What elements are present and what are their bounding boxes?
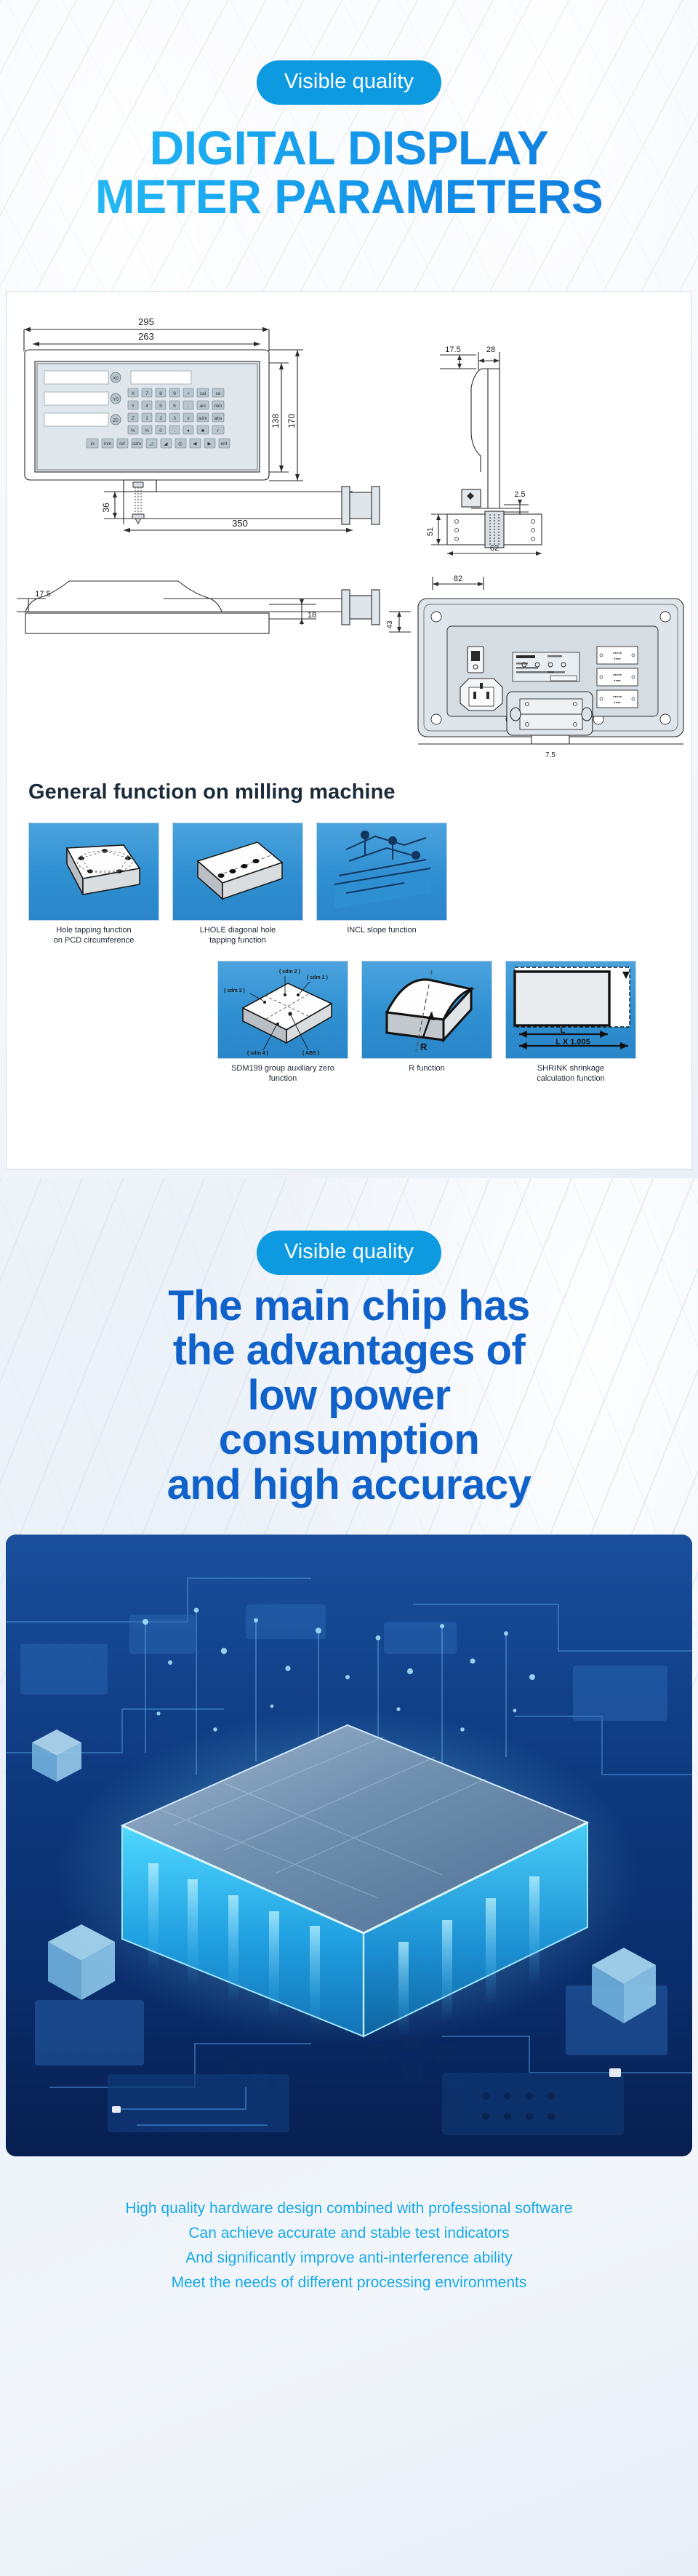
visible-quality-badge: Visible quality: [257, 60, 441, 105]
function-card-caption: INCL slope function: [316, 926, 447, 936]
dim-mount-height: 51: [426, 527, 435, 536]
svg-text:0: 0: [159, 428, 162, 433]
dim-bracket-height: 36: [101, 503, 111, 513]
dim-side-offset: 17.5: [445, 345, 460, 354]
caption-line-1: R function: [409, 1064, 445, 1073]
shrink-label-l: L: [561, 1026, 566, 1035]
section-digital-display-parameters: Visible quality DIGITAL DISPLAY METER PA…: [0, 0, 698, 1178]
svg-text:9: 9: [173, 391, 176, 396]
caption-line-2: calculation function: [537, 1074, 605, 1083]
function-card-caption: R function: [361, 1064, 492, 1074]
dim-panel-height: 138: [270, 414, 281, 428]
svg-text:●●●●●: ●●●●●: [613, 673, 622, 676]
svg-text:●●●●●: ●●●●●: [613, 651, 622, 655]
caption-line-2: on PCD circumference: [54, 936, 135, 945]
axis-label-z: Z0: [113, 418, 119, 423]
technical-drawing-svg: 295 263: [11, 299, 687, 779]
technical-drawing-card: 295 263: [6, 291, 692, 1169]
svg-text:%: %: [145, 428, 149, 433]
sdm-zero-grid-icon: ( sdm 2 ) ( sdm 1 ) ( sdm 3 ) ( sdm 4 ) …: [217, 961, 348, 1059]
svg-text:sdm: sdm: [198, 416, 207, 421]
diagonal-hole-pattern-icon: [172, 823, 303, 921]
headline-line-3: low power: [0, 1373, 698, 1417]
dim-hole-small: 7.5: [545, 751, 555, 759]
headline-line-1: The main chip has: [0, 1284, 698, 1328]
tagline-line-2: Can achieve accurate and stable test ind…: [0, 2221, 698, 2246]
svg-text:Z: Z: [132, 416, 135, 421]
function-card: L L X 1.005 SHRINK shrinkage calculation…: [505, 961, 636, 1084]
axis-label-x: X0: [113, 376, 119, 381]
dim-side-depth: 28: [486, 345, 495, 354]
function-card-caption: Hole tapping function on PCD circumferen…: [28, 926, 159, 946]
svg-text:●●●●: ●●●●: [614, 679, 621, 682]
dim-mount-span: 62: [490, 544, 499, 553]
visible-quality-badge-2: Visible quality: [257, 1231, 441, 1275]
caption-line-1: SHRINK shrinkage: [537, 1064, 604, 1073]
headline-line-5: and high accuracy: [0, 1463, 698, 1507]
headline-line-2: the advantages of: [0, 1328, 698, 1372]
function-card: LHOLE diagonal hole tapping function: [172, 823, 303, 946]
svg-text:5: 5: [159, 404, 162, 409]
dim-panel-width: 263: [138, 331, 154, 342]
headline-line-4: consumption: [0, 1417, 698, 1462]
sdm-label-abs: ( ABS ): [302, 1051, 319, 1056]
svg-text:arc: arc: [199, 404, 206, 409]
svg-text:sdm: sdm: [132, 441, 141, 447]
svg-text:8: 8: [159, 391, 162, 396]
svg-text:●●●●●: ●●●●●: [613, 695, 622, 698]
chip-headline: The main chip has the advantages of low …: [0, 1284, 698, 1507]
svg-text:ent: ent: [220, 441, 227, 447]
caption-line-1: Hole tapping function: [56, 926, 131, 935]
badge-container-second: Visible quality: [0, 1231, 698, 1275]
svg-text:mm: mm: [104, 441, 112, 447]
dim-overall-width: 295: [138, 316, 154, 327]
caption-line-1: INCL slope function: [347, 926, 417, 935]
function-cards-row-1: Hole tapping function on PCD circumferen…: [28, 823, 450, 946]
function-card: R R function: [361, 961, 492, 1084]
svg-text:6: 6: [173, 404, 176, 409]
shrink-scale-icon: L L X 1.005: [505, 961, 636, 1059]
chip-tagline: High quality hardware design combined wi…: [0, 2196, 698, 2295]
sdm-label-2: ( sdm 2 ): [279, 969, 300, 975]
svg-text:Y: Y: [132, 404, 135, 409]
caption-line-1: LHOLE diagonal hole: [200, 926, 276, 935]
svg-text:●●●●: ●●●●: [614, 700, 621, 704]
dim-base-thickness: 18: [308, 611, 316, 620]
tagline-line-1: High quality hardware design combined wi…: [0, 2196, 698, 2221]
svg-text:abs: abs: [214, 416, 222, 421]
tagline-line-4: Meet the needs of different processing e…: [0, 2271, 698, 2295]
svg-text:3: 3: [173, 416, 176, 421]
function-card: Hole tapping function on PCD circumferen…: [28, 823, 159, 946]
svg-text:-: -: [188, 404, 189, 409]
dim-profile-offset: 17.5: [35, 590, 50, 599]
svg-text:●●●●: ●●●●: [614, 657, 621, 660]
badge-container-top: Visible quality: [0, 60, 698, 105]
incline-slope-icon: [316, 823, 447, 921]
svg-text:%: %: [131, 428, 135, 433]
svg-text:in: in: [90, 441, 94, 447]
svg-text:ref: ref: [119, 441, 125, 447]
general-function-title: General function on milling machine: [28, 780, 396, 804]
function-card: ( sdm 2 ) ( sdm 1 ) ( sdm 3 ) ( sdm 4 ) …: [217, 961, 348, 1084]
svg-text:mm: mm: [214, 404, 222, 409]
radius-label: R: [420, 1041, 428, 1052]
page-title: DIGITAL DISPLAY METER PARAMETERS: [0, 124, 698, 222]
dim-arm-length: 350: [232, 518, 248, 529]
page-title-line-2: METER PARAMETERS: [0, 172, 698, 221]
sdm-label-1: ( sdm 1 ): [307, 975, 328, 980]
radius-block-icon: R: [361, 961, 492, 1059]
blue-circuit-board-chip-photo: [6, 1535, 692, 2156]
svg-text:cal: cal: [200, 391, 206, 396]
axis-label-y: Y0: [113, 397, 119, 402]
function-card-caption: SDM199 group auxiliary zero function: [217, 1064, 348, 1084]
product-detail-page: Visible quality DIGITAL DISPLAY METER PA…: [0, 0, 698, 2576]
svg-text:●: ●: [187, 428, 190, 433]
svg-text:X: X: [132, 391, 135, 396]
svg-text:4: 4: [145, 404, 148, 409]
sdm-label-3: ( sdm 3 ): [224, 988, 245, 993]
svg-text:1: 1: [145, 416, 148, 421]
function-card-caption: LHOLE diagonal hole tapping function: [172, 926, 303, 946]
svg-text:2: 2: [159, 416, 162, 421]
pcd-hole-pattern-icon: [28, 823, 159, 921]
svg-text:7: 7: [145, 391, 148, 396]
svg-text:+: +: [187, 391, 190, 396]
page-title-line-1: DIGITAL DISPLAY: [150, 121, 549, 175]
dim-hole-spacing: 43: [386, 620, 394, 629]
dim-mount-width: 82: [454, 575, 462, 583]
function-card: INCL slope function: [316, 823, 447, 946]
svg-text:◎: ◎: [178, 441, 182, 447]
svg-text:■: ■: [201, 428, 204, 433]
caption-line-1: SDM199 group auxiliary zero function: [231, 1064, 334, 1083]
svg-text:.: .: [174, 428, 175, 433]
dim-overall-height: 170: [286, 414, 297, 428]
function-card-caption: SHRINK shrinkage calculation function: [505, 1064, 636, 1084]
section-main-chip-advantages: Visible quality The main chip has the ad…: [0, 1178, 698, 2576]
function-cards-row-2: ( sdm 2 ) ( sdm 1 ) ( sdm 3 ) ( sdm 4 ) …: [217, 961, 683, 1084]
tagline-line-3: And significantly improve anti-interfere…: [0, 2246, 698, 2271]
dim-side-thickness: 2.5: [514, 490, 525, 499]
caption-line-2: tapping function: [209, 936, 266, 945]
shrink-label-lx: L X 1.005: [555, 1038, 590, 1047]
svg-text:ce: ce: [216, 391, 221, 396]
sdm-label-4: ( sdm 4 ): [247, 1051, 268, 1056]
